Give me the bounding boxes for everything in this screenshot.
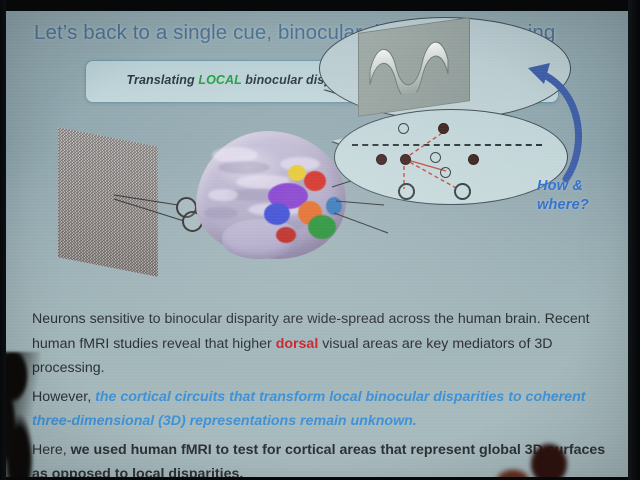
frame-edge-left <box>0 0 6 480</box>
dot-open-large <box>454 183 471 200</box>
roi-patch-blue <box>264 203 290 225</box>
roi-patch-red <box>304 171 326 191</box>
dot-open <box>398 123 409 134</box>
projected-slide-photo: Let’s back to a single cue, binocular di… <box>0 0 640 480</box>
frame-edge-top <box>0 0 640 11</box>
roi-patch-yellow <box>288 165 306 181</box>
dot-open-large <box>398 183 415 200</box>
banner-text-part1: Translating <box>127 73 199 87</box>
annotation-line-2: where? <box>537 196 589 215</box>
roi-patch-green <box>308 215 336 239</box>
curved-arrow-icon <box>506 51 596 191</box>
paragraph-2-part-a: However, <box>32 389 95 405</box>
banner-word-local: LOCAL <box>198 73 241 87</box>
dot-filled <box>438 123 449 134</box>
paragraph-2: However, the cortical circuits that tran… <box>32 385 624 434</box>
paragraph-1: Neurons sensitive to binocular disparity… <box>32 307 624 381</box>
how-and-where-annotation: How & where? <box>537 177 589 215</box>
dot-filled <box>468 154 479 165</box>
slide-surface: Let’s back to a single cue, binocular di… <box>6 11 630 477</box>
highlight-dorsal: dorsal <box>276 336 319 352</box>
roi-patch-teal <box>326 197 342 215</box>
audience-silhouette-left <box>0 352 40 480</box>
corrugated-surface-icon <box>368 29 454 99</box>
dot-filled <box>376 154 387 165</box>
dot-open <box>430 152 441 163</box>
dot-filled <box>400 154 411 165</box>
frame-edge-right <box>628 0 640 480</box>
paragraph-2-blue-clause: the cortical circuits that transform loc… <box>32 389 585 430</box>
roi-patch-darkred <box>276 227 296 243</box>
annotation-line-1: How & <box>537 177 589 196</box>
dot-open <box>440 167 451 178</box>
random-dot-stereogram-shading <box>58 127 158 276</box>
